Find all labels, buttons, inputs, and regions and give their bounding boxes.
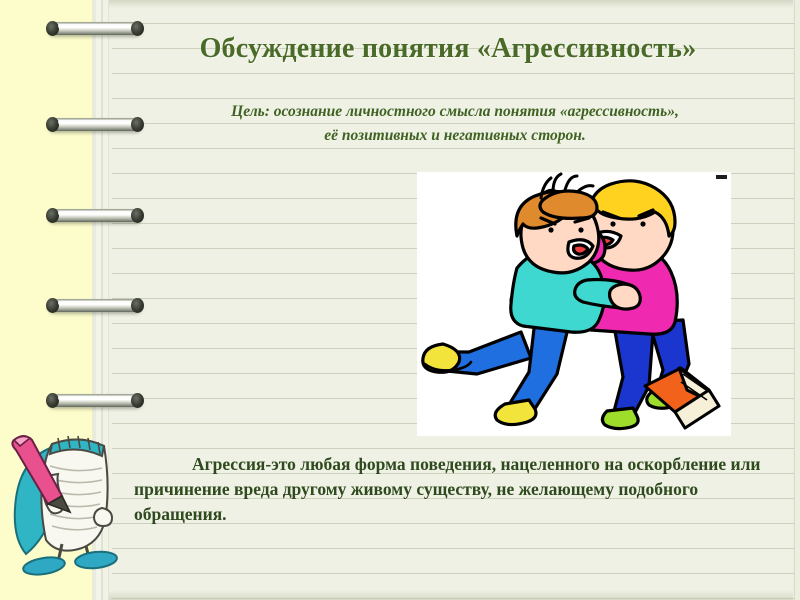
- fighting-boys-svg: [417, 172, 731, 436]
- page-bottom-shadow: [109, 590, 793, 600]
- subtitle-line-2: её позитивных и негативных сторон.: [150, 124, 760, 148]
- notepad-mascot: [4, 424, 132, 576]
- spiral-ring-4: [48, 299, 142, 312]
- subtitle-line-1: Цель: осознание личностного смысла понят…: [150, 100, 760, 124]
- slide-subtitle: Цель: осознание личностного смысла понят…: [150, 100, 760, 148]
- spiral-ring-3: [48, 209, 142, 222]
- definition-paragraph: Агрессия-это любая форма поведения, наце…: [134, 452, 774, 527]
- fighting-boys-illustration: [417, 172, 731, 436]
- page-title: Обсуждение понятия «Агрессивность»: [118, 34, 778, 65]
- spiral-ring-2: [48, 118, 142, 131]
- notepad-mascot-svg: [4, 424, 132, 576]
- spiral-ring-5: [48, 394, 142, 407]
- page-top-shadow: [109, 0, 793, 8]
- slide-canvas: Обсуждение понятия «Агрессивность» Цель:…: [0, 0, 800, 600]
